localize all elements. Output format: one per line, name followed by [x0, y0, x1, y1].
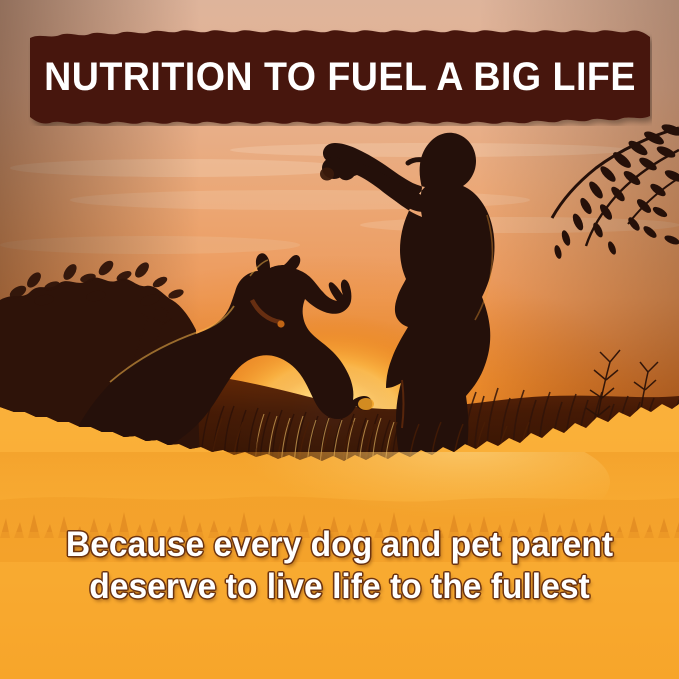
banner-title: NUTRITION TO FUEL A BIG LIFE [47, 28, 634, 126]
header-banner: NUTRITION TO FUEL A BIG LIFE [28, 28, 652, 126]
tagline-block: Because every dog and pet parent deserve… [0, 524, 679, 608]
tagline-line-2: deserve to live life to the fullest [14, 566, 666, 608]
ad-creative-card: NUTRITION TO FUEL A BIG LIFE Because eve… [0, 0, 679, 679]
collar-tag [277, 320, 284, 327]
tagline-line-1: Because every dog and pet parent [14, 524, 666, 566]
ball [320, 168, 334, 181]
dog-paw-highlight [358, 398, 374, 410]
